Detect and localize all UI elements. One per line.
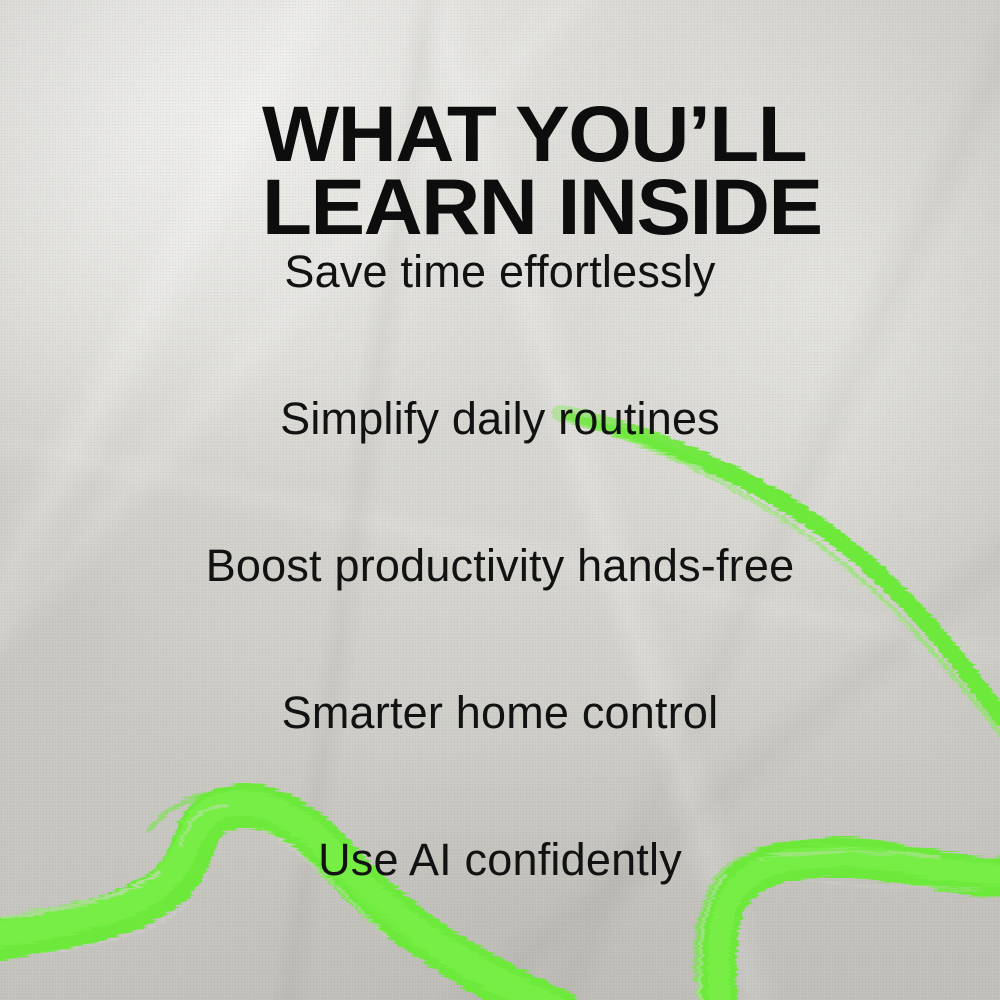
- headline-line-2: LEARN INSIDE: [262, 170, 987, 243]
- list-item: Simplify daily routines: [0, 391, 1000, 538]
- list-item: Use AI confidently: [0, 832, 1000, 979]
- headline-line-1: WHAT YOU’LL: [262, 97, 987, 170]
- list-item: Smarter home control: [0, 685, 1000, 832]
- page-title: WHAT YOU’LL LEARN INSIDE: [262, 97, 987, 244]
- list-item: Save time effortlessly: [0, 244, 1000, 391]
- list-item: Boost productivity hands-free: [0, 538, 1000, 685]
- poster-canvas: WHAT YOU’LL LEARN INSIDE Save time effor…: [0, 0, 1000, 1000]
- feature-list: Save time effortlessly Simplify daily ro…: [0, 244, 1000, 979]
- poster-content: WHAT YOU’LL LEARN INSIDE Save time effor…: [0, 0, 1000, 1000]
